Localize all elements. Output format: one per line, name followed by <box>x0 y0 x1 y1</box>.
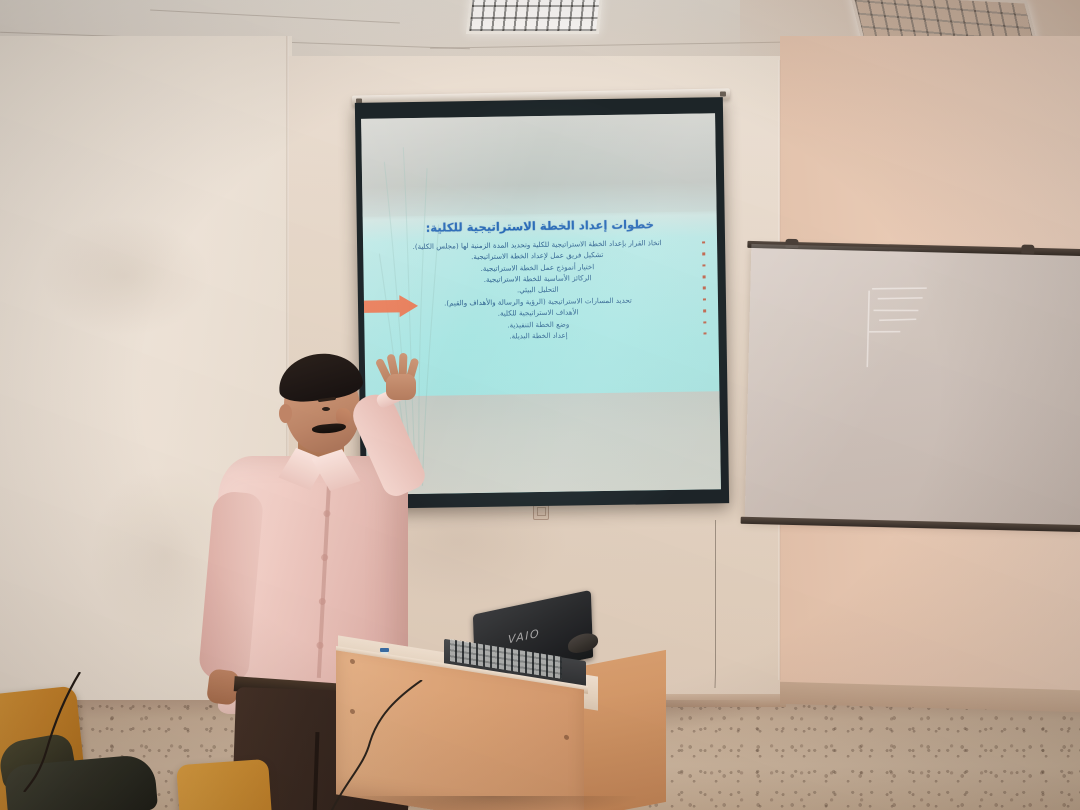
slide-bullet-text: وضع الخطة التنفيذية. <box>507 319 569 329</box>
slide-bullet-text: اختيار أنموذج عمل الخطة الاستراتيجية. <box>481 262 595 273</box>
power-cable-icon <box>714 520 717 688</box>
bullet-marker-icon <box>704 310 707 313</box>
chair-front[interactable] <box>176 759 272 810</box>
bottle-cap <box>380 648 389 652</box>
screen-bracket-right <box>720 91 726 96</box>
whiteboard-glare <box>745 244 1080 528</box>
bullet-marker-icon <box>703 298 706 301</box>
bullet-marker-icon <box>703 275 706 278</box>
presenter-nose <box>336 408 351 424</box>
whiteboard[interactable] <box>745 244 1080 528</box>
presenter-raised-hand <box>380 356 422 400</box>
slide-title: خطوات إعداد الخطة الاستراتيجية للكلية: <box>372 216 708 235</box>
bullet-marker-icon <box>703 287 706 290</box>
slide-bullet-text: التحليل البيئي. <box>517 285 559 295</box>
bullet-marker-icon <box>704 321 707 324</box>
ceiling-light-panel-left <box>466 0 603 34</box>
slide-bullet-text: تحديد المسارات الاستراتيجية (الرؤية والر… <box>444 295 632 307</box>
slide-bullet-text: تشكيل فريق عمل لإعداد الخطة الاستراتيجية… <box>471 250 603 261</box>
slide-bullet-text: الأهداف الاستراتيجية للكلية. <box>498 308 579 318</box>
podium[interactable]: VAIO <box>336 636 666 810</box>
floor-cable-icon <box>20 672 110 792</box>
podium-power-cable-icon <box>326 680 446 810</box>
bullet-marker-icon <box>703 264 706 267</box>
slide-bullet-list: اتخاذ القرار بإعداد الخطة الاستراتيجية ل… <box>372 237 710 344</box>
slide-bullet-text: إعداد الخطة البديلة. <box>509 330 567 340</box>
slide-bullet-text: الركائز الأساسية للخطة الاستراتيجية. <box>484 273 592 284</box>
presenter-ear <box>279 404 292 423</box>
bullet-marker-icon <box>702 241 705 244</box>
bullet-marker-icon <box>703 253 706 256</box>
screen-blank-top <box>361 113 716 216</box>
lecture-room-photo: خطوات إعداد الخطة الاستراتيجية للكلية: ا… <box>0 0 1080 810</box>
bullet-marker-icon <box>704 332 707 335</box>
podium-shadow <box>346 796 636 810</box>
presenter-eye <box>322 407 330 411</box>
